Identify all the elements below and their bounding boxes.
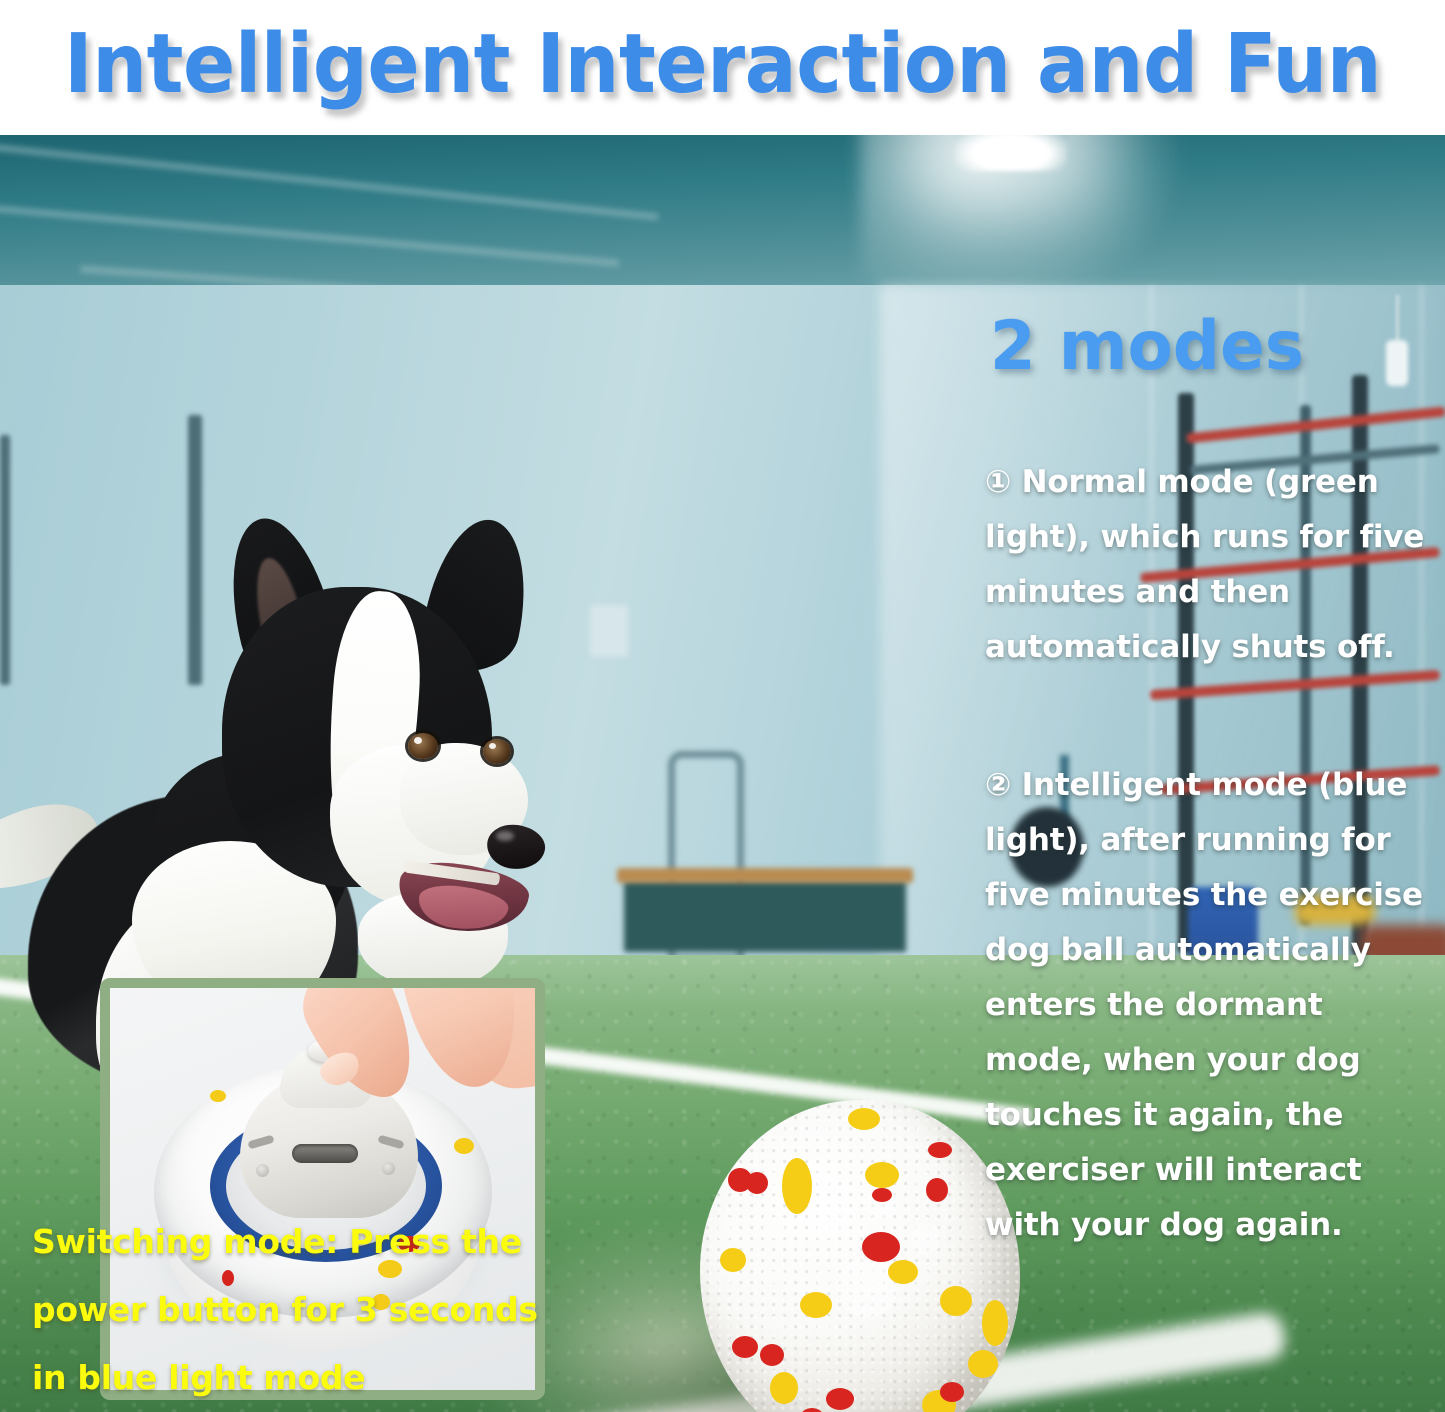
- inset-caption-line-2: power button for 3 seconds: [32, 1276, 652, 1344]
- page-title: Intelligent Interaction and Fun: [64, 22, 1381, 114]
- usb-charging-port: [292, 1144, 358, 1163]
- ball-speckle: [982, 1300, 1008, 1346]
- dog-nose-highlight: [496, 831, 514, 841]
- ball-speckle: [848, 1108, 880, 1130]
- inset-caption-line-3: in blue light mode: [32, 1344, 652, 1412]
- ball-speckle: [746, 1172, 768, 1194]
- mode-item-normal: ① Normal mode (green light), which runs …: [985, 455, 1431, 675]
- ball-speckle: [928, 1142, 952, 1158]
- ball-speckle: [770, 1372, 798, 1404]
- ball-speckle: [968, 1350, 998, 1378]
- screw: [382, 1162, 395, 1175]
- ball-speckle: [720, 1248, 746, 1272]
- ball-speckle: [732, 1336, 758, 1358]
- screw: [256, 1164, 269, 1177]
- ball-speckle: [872, 1188, 892, 1202]
- ball-speckle: [862, 1232, 900, 1262]
- ceiling-light-fixture: [955, 135, 1067, 171]
- dog-eye-left: [408, 733, 438, 759]
- mode-item-intelligent: ② Intelligent mode (blue light), after r…: [985, 758, 1431, 1253]
- ball-speckle: [940, 1286, 972, 1316]
- inset-ball-speckle: [454, 1138, 474, 1154]
- dog-eye-highlight: [489, 743, 496, 749]
- ball-speckle: [800, 1292, 832, 1318]
- ball-speckle: [926, 1178, 948, 1202]
- gym-bench-top: [617, 868, 913, 883]
- ball-speckle: [760, 1344, 784, 1366]
- ball-speckle: [826, 1388, 854, 1410]
- title-banner: Intelligent Interaction and Fun: [0, 0, 1445, 135]
- gym-bench-body: [624, 880, 906, 952]
- dog-eye-highlight: [414, 737, 422, 744]
- hanging-equipment: [1386, 340, 1408, 386]
- ball-speckle: [940, 1382, 964, 1402]
- hanging-cord: [1396, 295, 1399, 343]
- inset-caption: Switching mode: Press the power button f…: [32, 1208, 652, 1412]
- ball-speckle: [782, 1158, 812, 1214]
- modes-heading: 2 modes: [990, 310, 1304, 384]
- dog-eye-right: [483, 739, 511, 764]
- ball-speckle: [888, 1260, 918, 1284]
- inset-caption-line-1: Switching mode: Press the: [32, 1208, 652, 1276]
- inset-ball-speckle: [210, 1090, 226, 1102]
- ball-speckle: [865, 1162, 899, 1188]
